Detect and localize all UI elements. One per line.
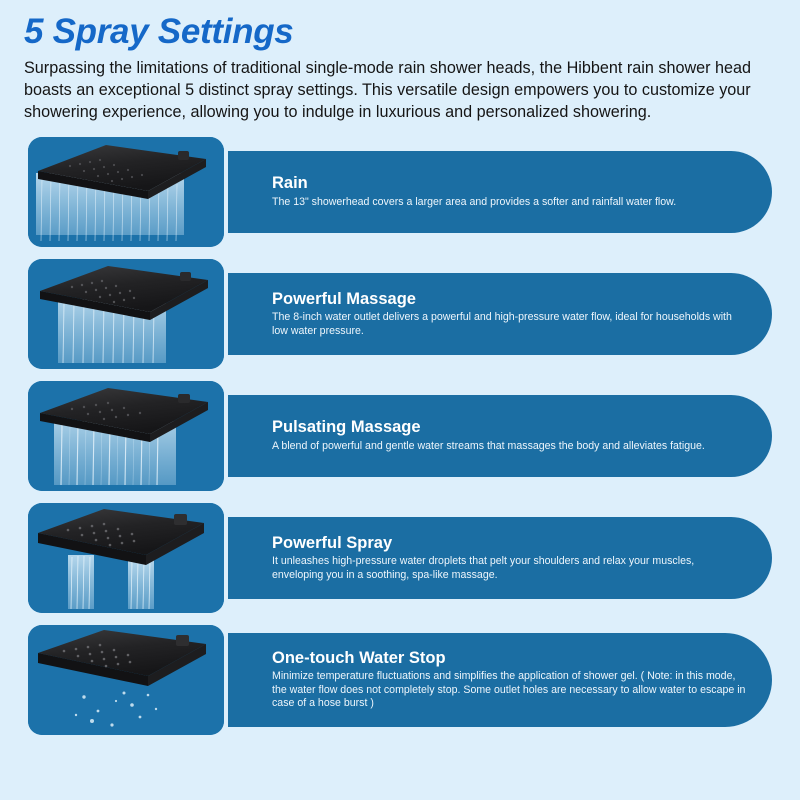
feature-text-pill: Pulsating Massage A blend of powerful an… — [228, 395, 772, 477]
feature-title: One-touch Water Stop — [272, 649, 746, 668]
spray-settings-list: Rain The 13" showerhead covers a larger … — [0, 137, 800, 735]
feature-text-pill: Powerful Massage The 8-inch water outlet… — [228, 273, 772, 355]
feature-description: The 13" showerhead covers a larger area … — [272, 196, 746, 209]
showerhead-powerful-massage-image — [28, 259, 224, 369]
feature-text-pill: One-touch Water Stop Minimize temperatur… — [228, 633, 772, 727]
feature-row[interactable]: Pulsating Massage A blend of powerful an… — [28, 381, 800, 491]
feature-row[interactable]: Powerful Spray It unleashes high-pressur… — [28, 503, 800, 613]
feature-text-pill: Powerful Spray It unleashes high-pressur… — [228, 517, 772, 599]
feature-row[interactable]: Powerful Massage The 8-inch water outlet… — [28, 259, 800, 369]
feature-title: Pulsating Massage — [272, 418, 746, 437]
feature-title: Rain — [272, 174, 746, 193]
feature-description: It unleashes high-pressure water droplet… — [272, 555, 746, 582]
feature-description: A blend of powerful and gentle water str… — [272, 440, 746, 453]
showerhead-pulsating-massage-image — [28, 381, 224, 491]
showerhead-powerful-spray-image — [28, 503, 224, 613]
showerhead-powerful-massage-icon — [28, 259, 224, 369]
showerhead-one-touch-water-stop-image — [28, 625, 224, 735]
feature-description: Minimize temperature fluctuations and si… — [272, 670, 746, 710]
showerhead-rain-icon — [28, 137, 224, 247]
feature-title: Powerful Massage — [272, 290, 746, 309]
feature-text-pill: Rain The 13" showerhead covers a larger … — [228, 151, 772, 233]
showerhead-rain-image — [28, 137, 224, 247]
feature-title: Powerful Spray — [272, 534, 746, 553]
page-header: 5 Spray Settings Surpassing the limitati… — [0, 0, 800, 124]
showerhead-one-touch-water-stop-icon — [28, 625, 224, 735]
showerhead-pulsating-massage-icon — [28, 381, 224, 491]
feature-description: The 8-inch water outlet delivers a power… — [272, 311, 746, 338]
intro-paragraph: Surpassing the limitations of traditiona… — [24, 58, 784, 124]
showerhead-powerful-spray-icon — [28, 503, 224, 613]
page-title: 5 Spray Settings — [24, 12, 776, 51]
feature-row[interactable]: One-touch Water Stop Minimize temperatur… — [28, 625, 800, 735]
feature-row[interactable]: Rain The 13" showerhead covers a larger … — [28, 137, 800, 247]
